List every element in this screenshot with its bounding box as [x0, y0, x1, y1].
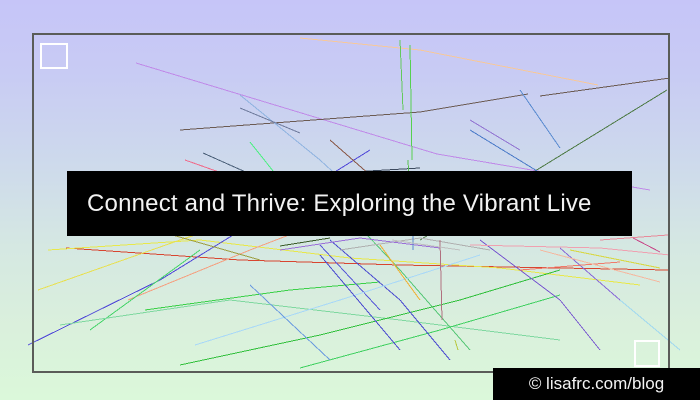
scribble-line: [410, 45, 412, 160]
screenshot-canvas: Connect and Thrive: Exploring the Vibran…: [0, 0, 700, 400]
scribble-line: [180, 112, 420, 130]
scribble-line: [240, 95, 320, 160]
scribble-line: [320, 245, 380, 310]
scribble-line: [250, 285, 330, 360]
scribble-line: [28, 280, 160, 345]
scribble-line: [400, 320, 560, 340]
scribble-line: [38, 240, 180, 290]
scribble-line: [290, 282, 380, 290]
scribble-line: [540, 90, 667, 168]
scribble-line: [460, 270, 560, 300]
scribble-line: [240, 108, 300, 133]
scribble-line: [560, 248, 620, 300]
scribble-line: [300, 38, 420, 50]
scribble-line: [195, 300, 340, 345]
corner-marker-top-left: [40, 43, 68, 69]
scribble-line: [320, 300, 460, 335]
watermark-text: © lisafrc.com/blog: [529, 374, 664, 394]
scribble-line: [540, 78, 670, 96]
scribble-line: [240, 260, 400, 265]
watermark-bar: © lisafrc.com/blog: [493, 368, 700, 400]
scribble-line: [380, 245, 420, 300]
scribble-line: [300, 330, 440, 368]
corner-marker-bottom-right: [634, 340, 660, 367]
scribble-line: [440, 240, 442, 320]
scribble-line: [180, 335, 320, 365]
scribble-line: [560, 300, 600, 350]
title-banner: Connect and Thrive: Exploring the Vibran…: [67, 171, 632, 236]
scribble-line: [520, 90, 560, 148]
scribble-line: [420, 238, 490, 250]
scribble-line: [350, 258, 500, 268]
scribble-line: [633, 238, 660, 252]
scribble-line: [420, 94, 528, 112]
scribble-line: [330, 140, 370, 175]
scribble-line: [400, 40, 403, 110]
page-title: Connect and Thrive: Exploring the Vibran…: [87, 190, 592, 218]
scribble-line: [145, 290, 290, 310]
scribble-line: [392, 240, 460, 250]
scribble-line: [230, 300, 400, 320]
scribble-line: [420, 50, 598, 85]
scribble-line: [540, 250, 660, 282]
scribble-line: [136, 63, 437, 154]
scribble-line: [60, 300, 230, 325]
scribble-line: [280, 238, 330, 246]
scribble-line: [455, 340, 458, 350]
scribble-line: [330, 240, 400, 300]
